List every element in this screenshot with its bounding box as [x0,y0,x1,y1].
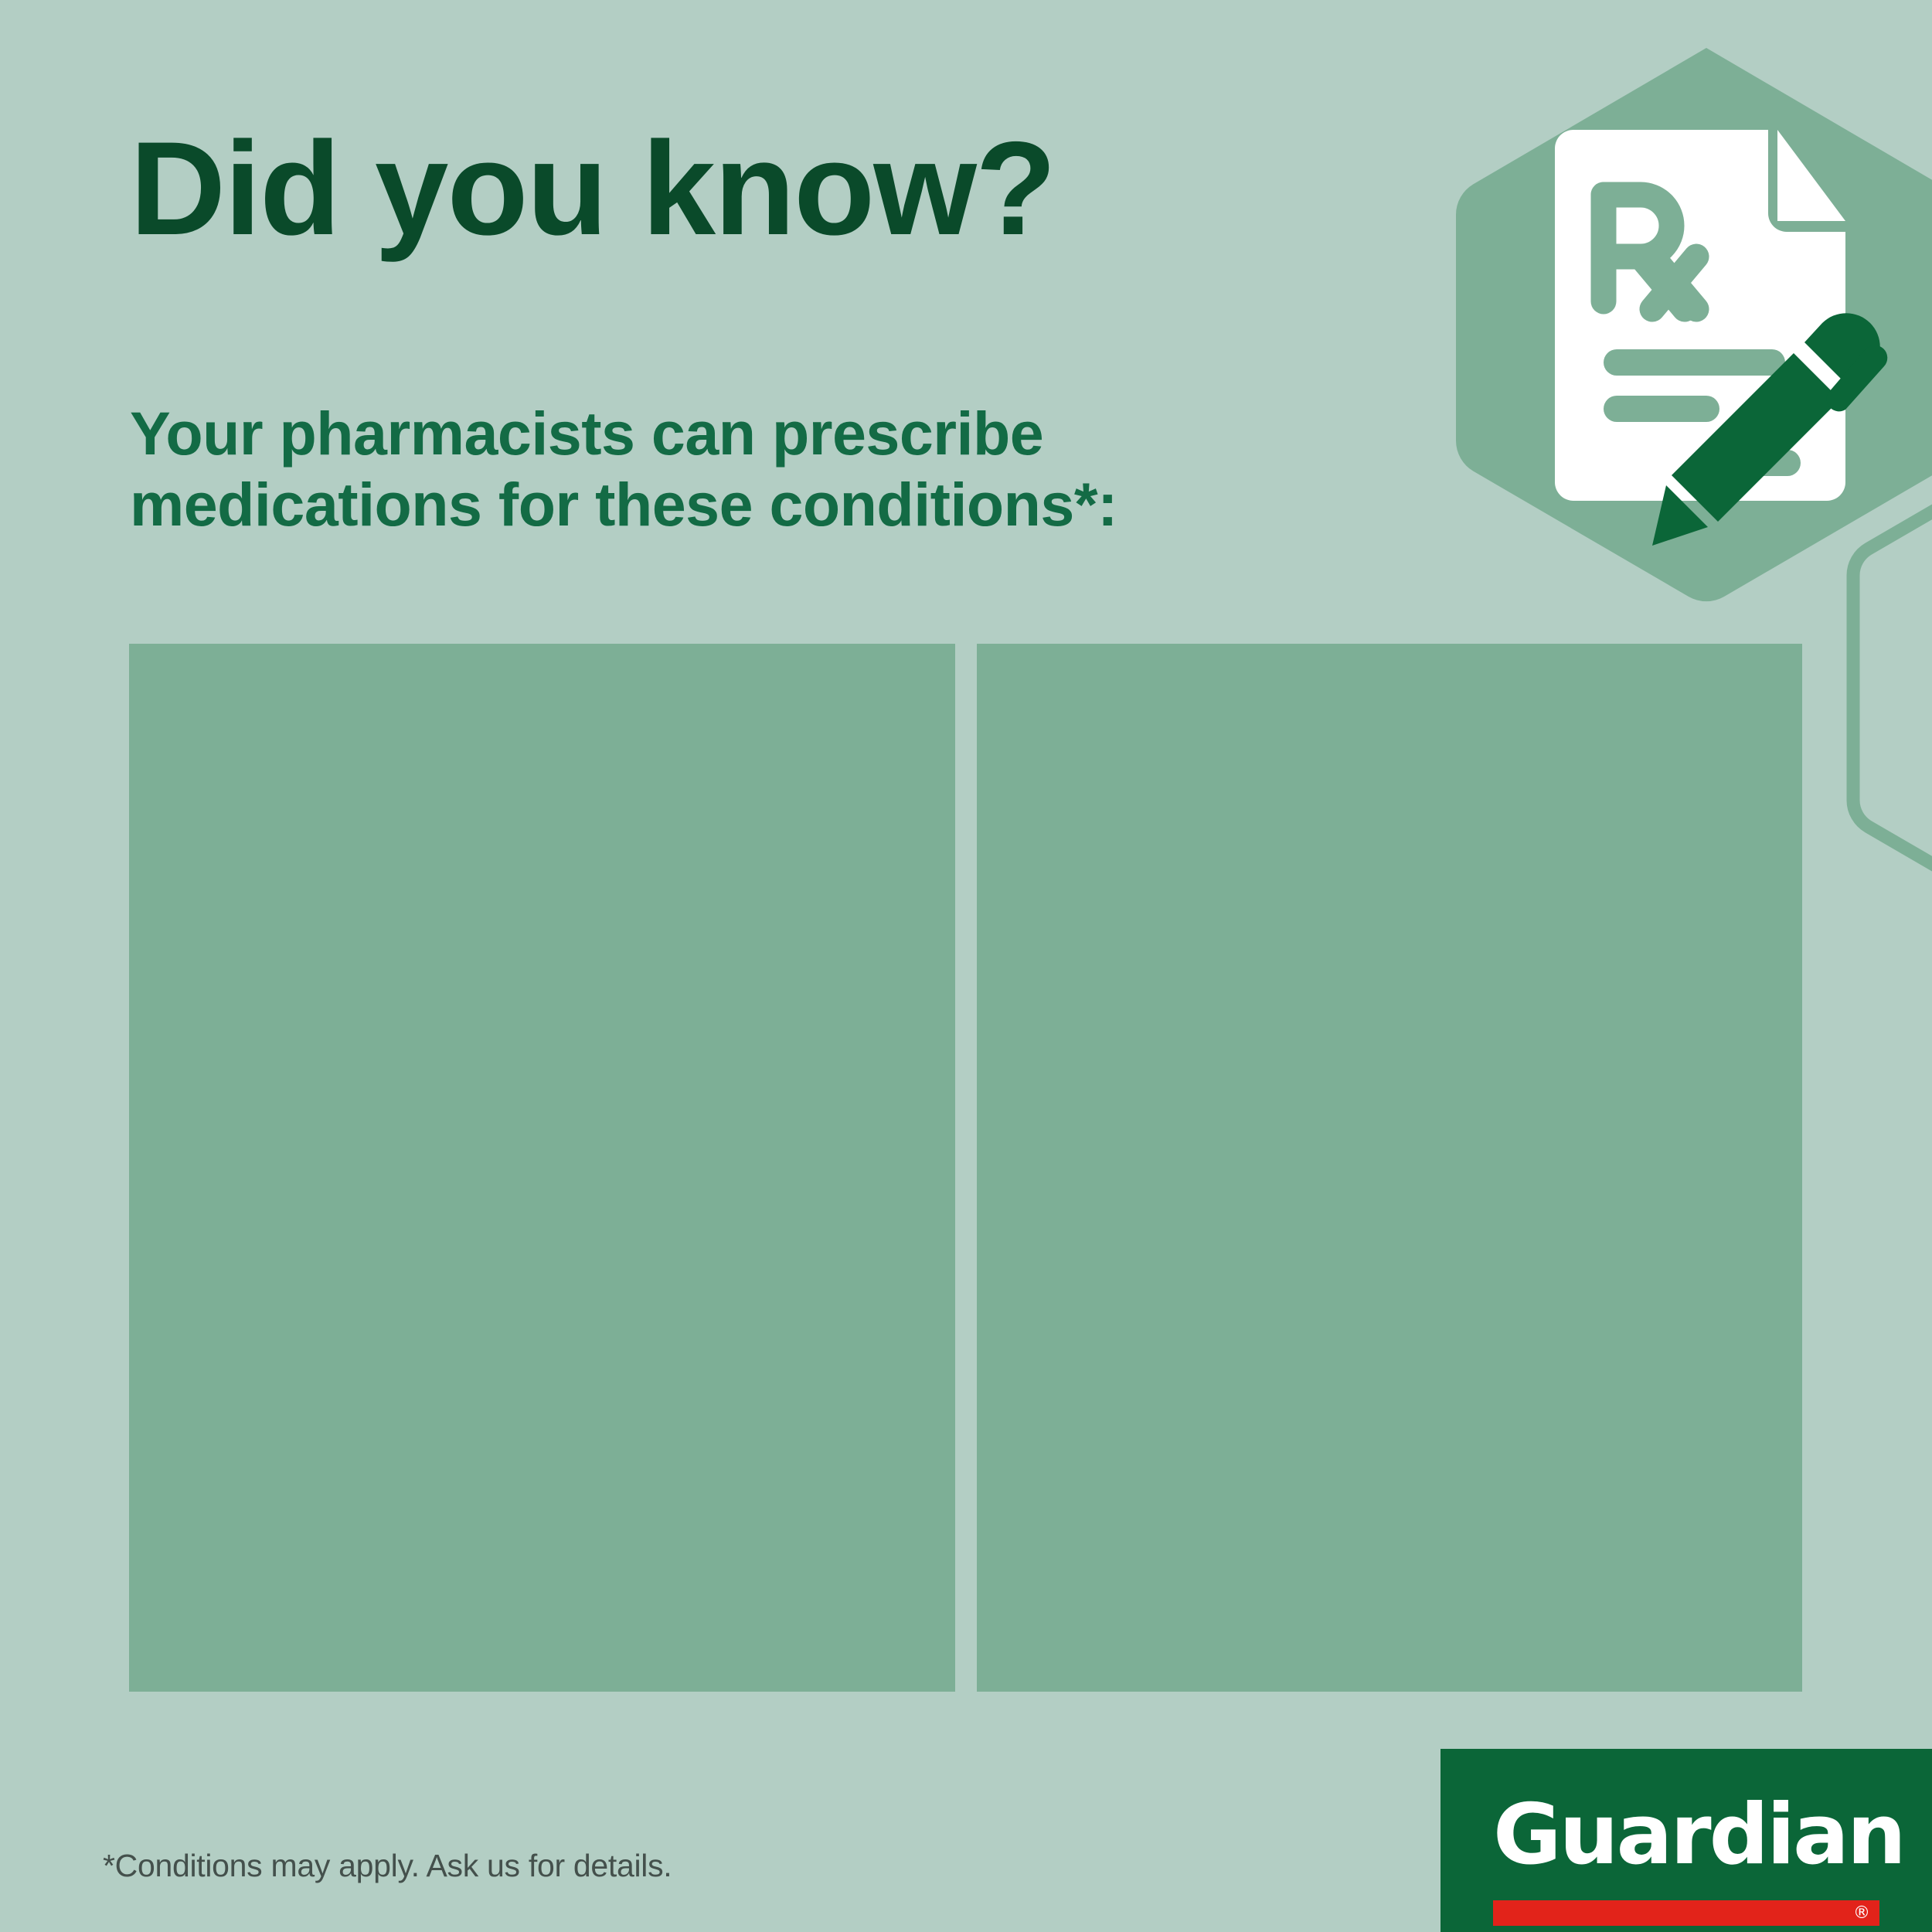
guardian-wordmark: Guardian [1493,1794,1879,1877]
conditions-column-left [129,644,955,1692]
document-line-2 [1604,396,1719,422]
page-subtitle-line-2: medications for these conditions*: [130,469,1335,540]
guardian-red-bar: ® [1493,1900,1879,1926]
guardian-logo: Guardian ® [1440,1749,1932,1932]
prescription-document-pen-icon [1453,77,1932,572]
page-subtitle: Your pharmacists can prescribe medicatio… [130,398,1335,539]
conditions-column-right [977,644,1802,1692]
page-subtitle-line-1: Your pharmacists can prescribe [130,398,1335,469]
poster-canvas: Did you know? Your pharmacists can presc… [0,0,1932,1932]
document-line-1 [1604,349,1785,376]
registered-trademark-icon: ® [1853,1902,1870,1925]
document-fold-corner [1777,130,1845,221]
footnote-disclaimer: *Conditions may apply. Ask us for detail… [103,1847,672,1885]
page-title: Did you know? [130,122,1289,255]
